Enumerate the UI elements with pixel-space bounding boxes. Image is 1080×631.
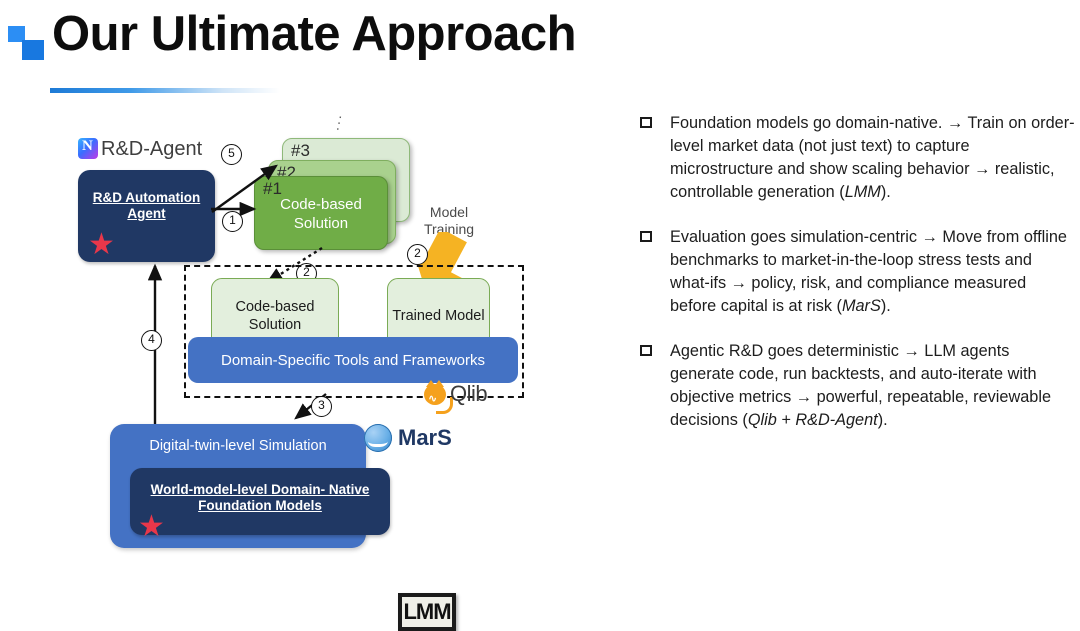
bullet-text-2: Agentic R&D goes deterministic → LLM age… bbox=[670, 340, 1076, 432]
foundation-models-box: World-model-level Domain- Native Foundat… bbox=[130, 468, 390, 535]
digital-twin-simulation-label: Digital-twin-level Simulation bbox=[110, 438, 366, 454]
domain-specific-tools-bar: Domain-Specific Tools and Frameworks bbox=[188, 337, 518, 383]
page-title: Our Ultimate Approach bbox=[52, 10, 576, 59]
mars-logo: MarS bbox=[364, 422, 484, 456]
qlib-label: Qlib bbox=[450, 381, 487, 407]
rd-automation-agent-label: R&D Automation Agent bbox=[78, 190, 215, 222]
step-badge-1: 1 bbox=[222, 211, 243, 232]
rd-agent-brand-label: R&D-Agent bbox=[101, 138, 202, 161]
list-item: Agentic R&D goes deterministic → LLM age… bbox=[640, 340, 1076, 432]
step-badge-4: 4 bbox=[141, 330, 162, 351]
bullet-text-1: Evaluation goes simulation-centric → Mov… bbox=[670, 226, 1076, 318]
step-badge-2b: 2 bbox=[407, 244, 428, 265]
qlib-logo: ∿ Qlib bbox=[424, 382, 524, 408]
bullet-list: Foundation models go domain-native. → Tr… bbox=[640, 112, 1076, 454]
rd-agent-logo-icon bbox=[78, 138, 98, 159]
checkbox-bullet-icon bbox=[640, 117, 652, 128]
architecture-diagram: R&D-Agent ... #3 #2 #1 Code-based Soluti… bbox=[0, 100, 620, 570]
title-underline-rule bbox=[50, 88, 280, 93]
mars-label: MarS bbox=[398, 425, 452, 451]
list-item: Foundation models go domain-native. → Tr… bbox=[640, 112, 1076, 204]
list-item: Evaluation goes simulation-centric → Mov… bbox=[640, 226, 1076, 318]
step-badge-3: 3 bbox=[311, 396, 332, 417]
checkbox-bullet-icon bbox=[640, 345, 652, 356]
blue-squares-logo-icon bbox=[8, 26, 44, 60]
highlight-star-icon-2: ★ bbox=[138, 512, 165, 542]
card-number-3: #3 bbox=[291, 141, 310, 161]
checkbox-bullet-icon bbox=[640, 231, 652, 242]
bullet-text-0: Foundation models go domain-native. → Tr… bbox=[670, 112, 1076, 204]
highlight-star-icon: ★ bbox=[88, 230, 115, 260]
mars-globe-icon bbox=[364, 424, 392, 452]
stack-ellipsis-icon: ... bbox=[336, 110, 344, 128]
slide-header: Our Ultimate Approach bbox=[0, 0, 1080, 100]
lmm-logo: LMM bbox=[398, 593, 456, 631]
step-badge-5: 5 bbox=[221, 144, 242, 165]
foundation-models-label: World-model-level Domain- Native Foundat… bbox=[130, 482, 390, 514]
rd-automation-agent-box: R&D Automation Agent ★ bbox=[78, 170, 215, 262]
